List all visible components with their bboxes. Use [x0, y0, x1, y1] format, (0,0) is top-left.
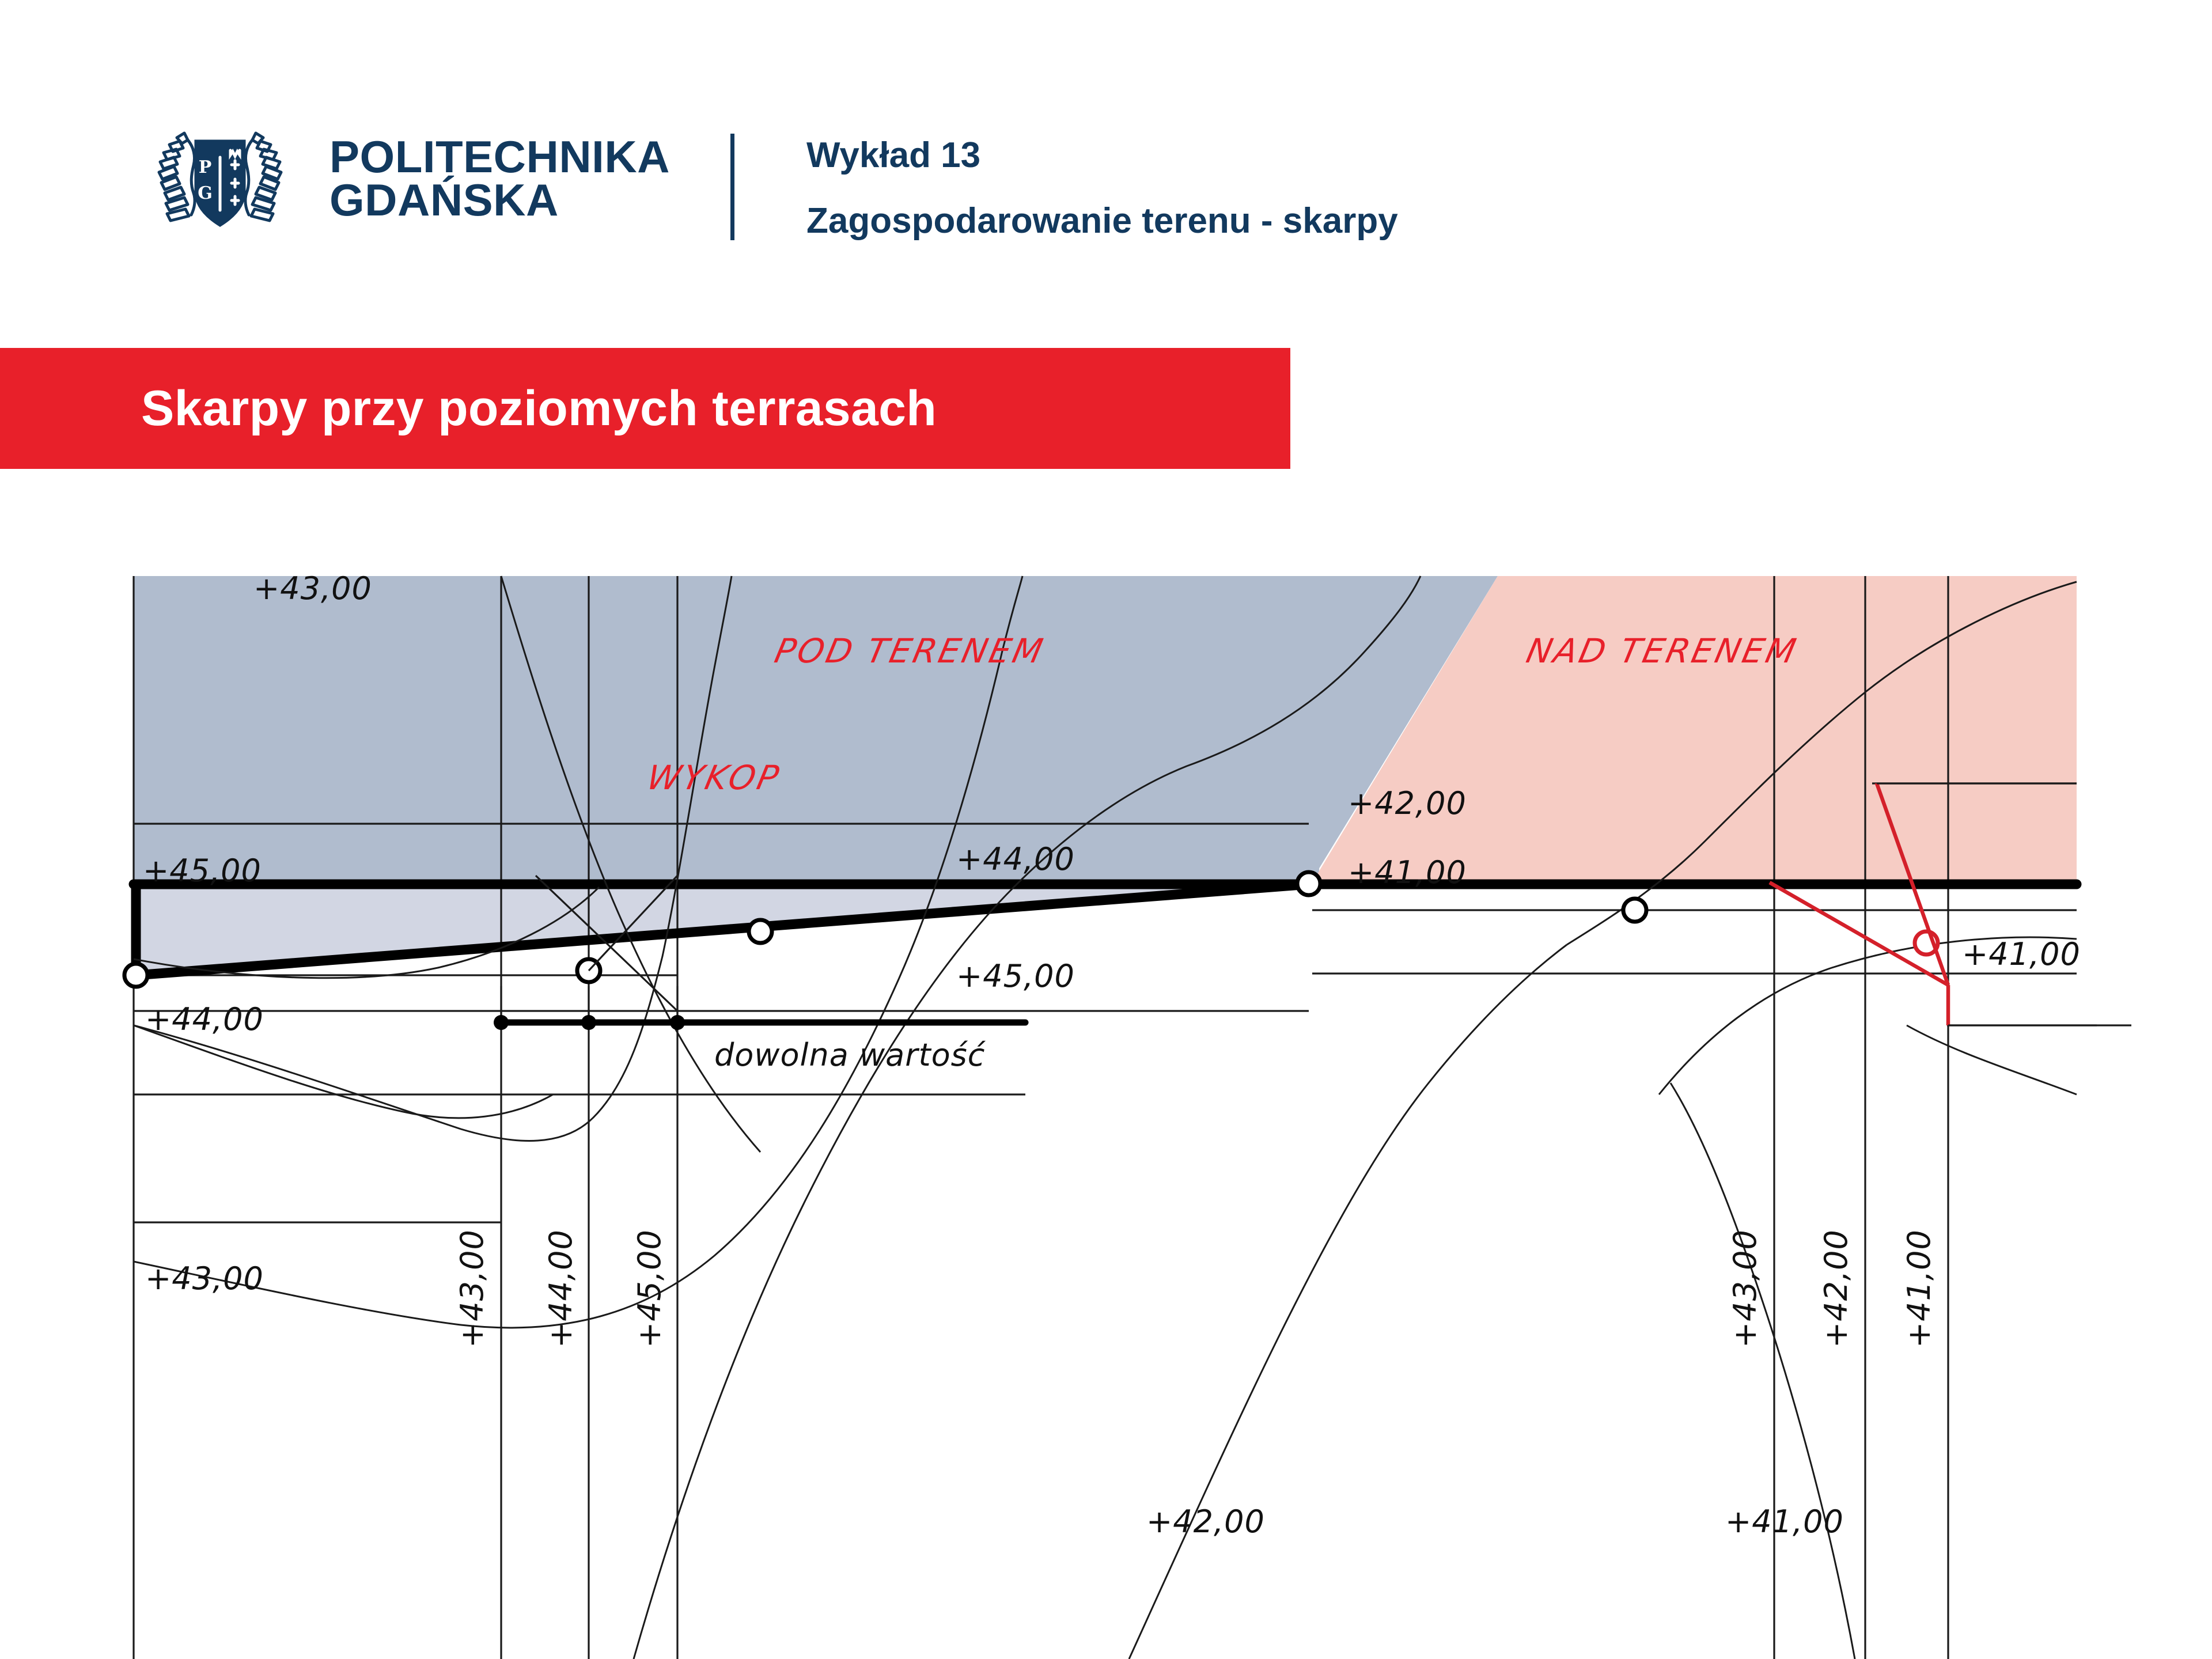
- university-logo: P G POLITECHNIKA GDAŃSKA: [134, 121, 721, 236]
- elevation-label-vertical: +42,00: [1818, 1229, 1854, 1348]
- header-divider: [730, 134, 734, 240]
- svg-text:G: G: [198, 183, 213, 203]
- section-title-banner: Skarpy przy poziomych terrasach: [0, 348, 1290, 469]
- slide-header: P G POLITECHNIKA GDAŃSKA Wykład 13 Zagos…: [0, 0, 2212, 300]
- elevation-label-vertical: +43,00: [454, 1229, 490, 1348]
- elevation-label-vertical: +44,00: [543, 1229, 579, 1348]
- elevation-label: +44,00: [145, 1001, 264, 1037]
- svg-text:P: P: [199, 157, 212, 177]
- elevation-label: +44,00: [956, 841, 1075, 877]
- elevation-label: +43,00: [145, 1260, 264, 1297]
- technical-drawing: POD TERENEM NAD TERENEM WYKOP +43,00 +45…: [0, 518, 2212, 1659]
- elevation-label: +43,00: [253, 570, 372, 607]
- elevation-label-vertical: +41,00: [1901, 1229, 1937, 1348]
- elevation-label-vertical: +45,00: [631, 1229, 668, 1348]
- elevation-label: +45,00: [956, 958, 1075, 994]
- pg-coat-of-arms-icon: P G: [134, 124, 306, 233]
- elevation-label: +41,00: [1348, 854, 1467, 891]
- drawing-canvas: POD TERENEM NAD TERENEM WYKOP +43,00 +45…: [0, 518, 2212, 1659]
- section-title: Skarpy przy poziomych terrasach: [141, 380, 937, 437]
- university-wordmark: POLITECHNIKA GDAŃSKA: [329, 135, 670, 222]
- label-wykop: WYKOP: [643, 759, 784, 797]
- zone-pod-terenem-body: [134, 576, 1498, 882]
- header-title-block: Wykład 13 Zagospodarowanie terenu - skar…: [806, 134, 1398, 243]
- annotation-dowolna-wartosc: dowolna wartość: [714, 1037, 986, 1073]
- elevation-label: +42,00: [1348, 785, 1467, 821]
- elevation-label: +45,00: [143, 853, 262, 889]
- elevation-label-vertical: +43,00: [1727, 1229, 1763, 1348]
- lecture-number: Wykład 13: [806, 134, 1398, 177]
- elevation-label: +41,00: [1962, 936, 2081, 972]
- lecture-subject: Zagospodarowanie terenu - skarpy: [806, 199, 1398, 243]
- elevation-label: +42,00: [1146, 1503, 1265, 1540]
- elevation-label: +41,00: [1725, 1503, 1844, 1540]
- arbitrary-value-baseline: [494, 986, 1025, 1030]
- label-pod-terenem: POD TERENEM: [771, 632, 1048, 671]
- label-nad-terenem: NAD TERENEM: [1523, 632, 1801, 671]
